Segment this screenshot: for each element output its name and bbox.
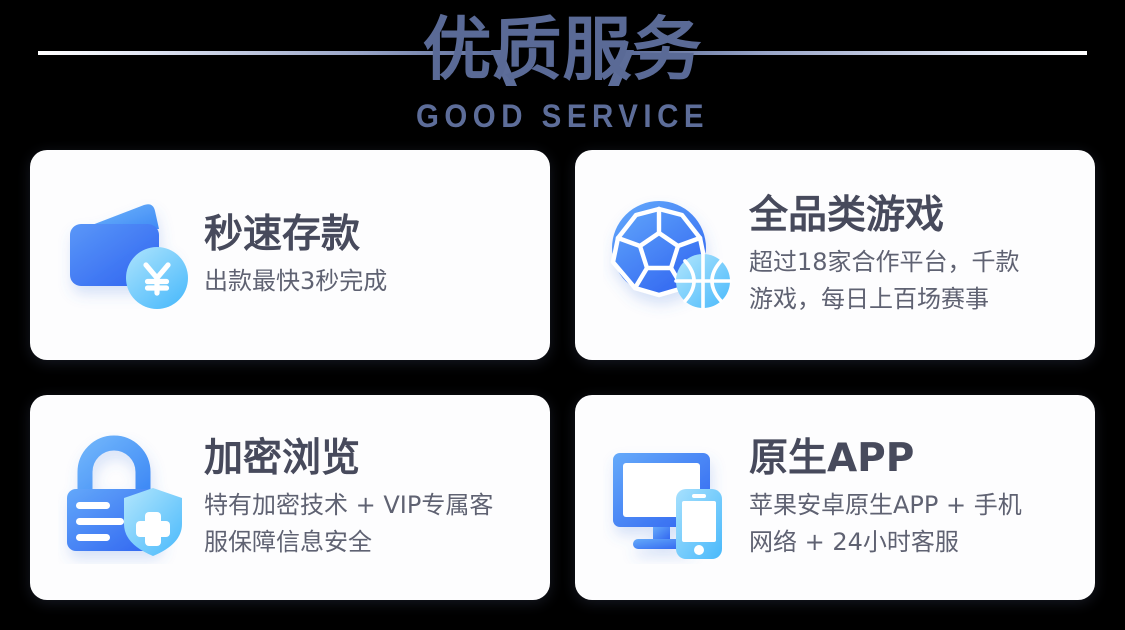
card-subtitle: 特有加密技术 + VIP专属客 服保障信息安全 <box>204 487 536 561</box>
feature-card-encryption[interactable]: 加密浏览 特有加密技术 + VIP专属客 服保障信息安全 <box>30 395 550 600</box>
card-text: 秒速存款 出款最快3秒完成 <box>204 211 536 300</box>
card-subtitle: 出款最快3秒完成 <box>204 263 536 300</box>
card-subtitle: 苹果安卓原生APP + 手机 网络 + 24小时客服 <box>749 487 1081 561</box>
monitor-phone-icon <box>603 432 735 564</box>
feature-card-deposit[interactable]: 秒速存款 出款最快3秒完成 <box>30 150 550 360</box>
feature-card-grid: 秒速存款 出款最快3秒完成 <box>30 150 1095 600</box>
page-title: 优质服务 <box>0 8 1125 92</box>
soccer-basketball-icon <box>603 189 735 321</box>
card-text: 全品类游戏 超过18家合作平台，千款 游戏，每日上百场赛事 <box>749 192 1081 318</box>
page-header: 优质服务 GOOD SERVICE <box>0 0 1125 150</box>
card-subtitle: 超过18家合作平台，千款 游戏，每日上百场赛事 <box>749 244 1081 318</box>
card-title: 原生APP <box>749 435 1081 483</box>
page-subtitle: GOOD SERVICE <box>45 99 1080 133</box>
promo-page: 优质服务 GOOD SERVICE <box>0 0 1125 630</box>
card-title: 全品类游戏 <box>749 192 1081 240</box>
lock-shield-icon <box>58 432 190 564</box>
card-text: 原生APP 苹果安卓原生APP + 手机 网络 + 24小时客服 <box>749 435 1081 561</box>
feature-card-native-app[interactable]: 原生APP 苹果安卓原生APP + 手机 网络 + 24小时客服 <box>575 395 1095 600</box>
feature-card-games[interactable]: 全品类游戏 超过18家合作平台，千款 游戏，每日上百场赛事 <box>575 150 1095 360</box>
wallet-yen-icon <box>58 189 190 321</box>
card-title: 秒速存款 <box>204 211 536 259</box>
card-title: 加密浏览 <box>204 435 536 483</box>
card-text: 加密浏览 特有加密技术 + VIP专属客 服保障信息安全 <box>204 435 536 561</box>
